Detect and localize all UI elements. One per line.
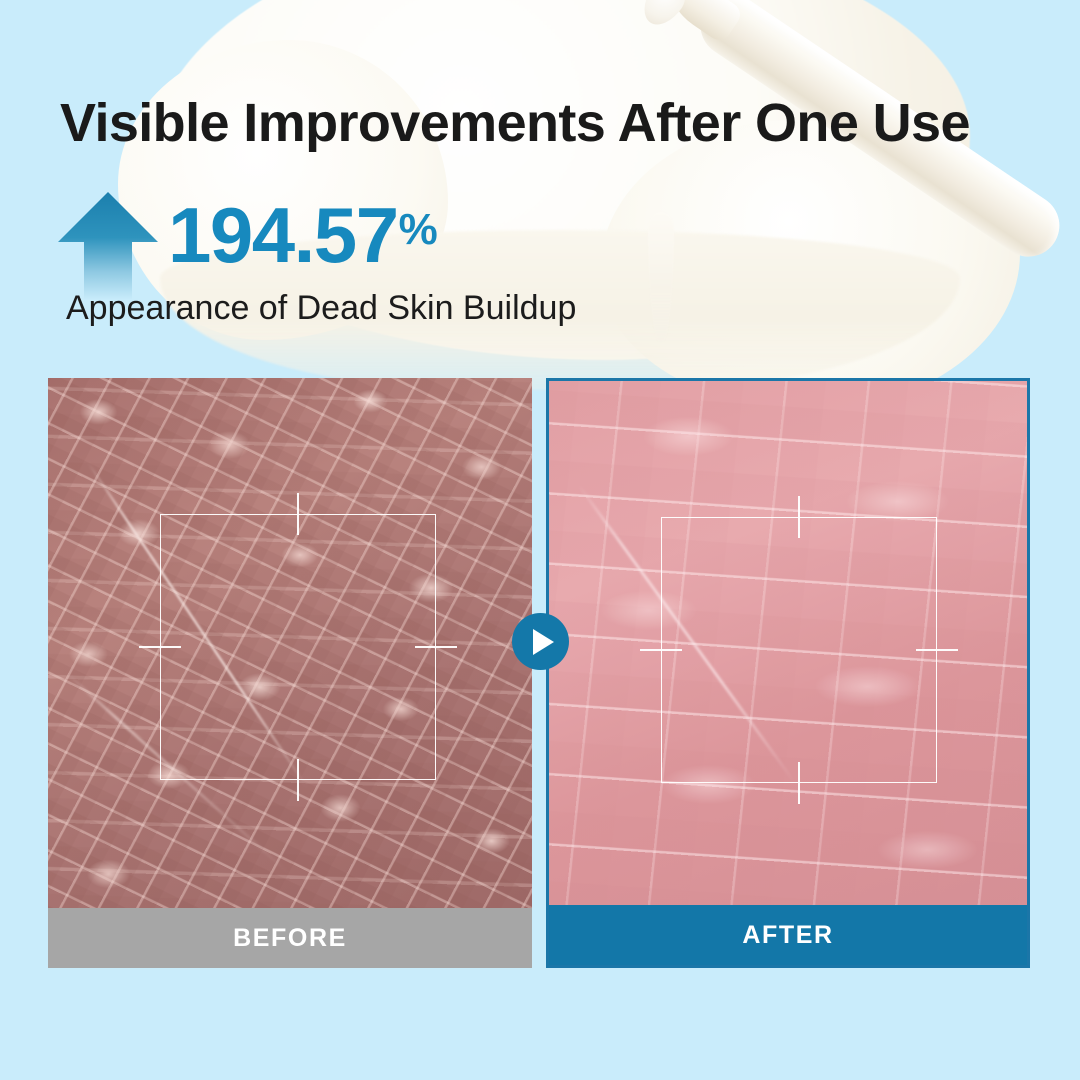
- crop-reticle-icon: [661, 517, 937, 783]
- play-arrow-icon[interactable]: [512, 613, 569, 670]
- reticle-tick-bottom: [798, 762, 800, 804]
- reticle-tick-right: [916, 649, 958, 651]
- reticle-box: [160, 514, 436, 780]
- before-after-comparison: BEFORE AFTER: [0, 0, 1080, 1080]
- before-panel: BEFORE: [48, 378, 532, 968]
- reticle-tick-right: [415, 646, 457, 648]
- reticle-tick-left: [139, 646, 181, 648]
- crop-reticle-icon: [160, 514, 436, 780]
- promo-canvas: Visible Improvements After One Use 194.5…: [0, 0, 1080, 1080]
- reticle-tick-bottom: [297, 759, 299, 801]
- reticle-tick-top: [798, 496, 800, 538]
- reticle-tick-top: [297, 493, 299, 535]
- play-triangle: [533, 629, 554, 655]
- before-skin-image: [48, 378, 532, 908]
- reticle-tick-left: [640, 649, 682, 651]
- reticle-box: [661, 517, 937, 783]
- after-panel: AFTER: [546, 378, 1030, 968]
- after-label: AFTER: [549, 905, 1027, 965]
- after-skin-image: [549, 381, 1027, 905]
- before-label: BEFORE: [48, 908, 532, 968]
